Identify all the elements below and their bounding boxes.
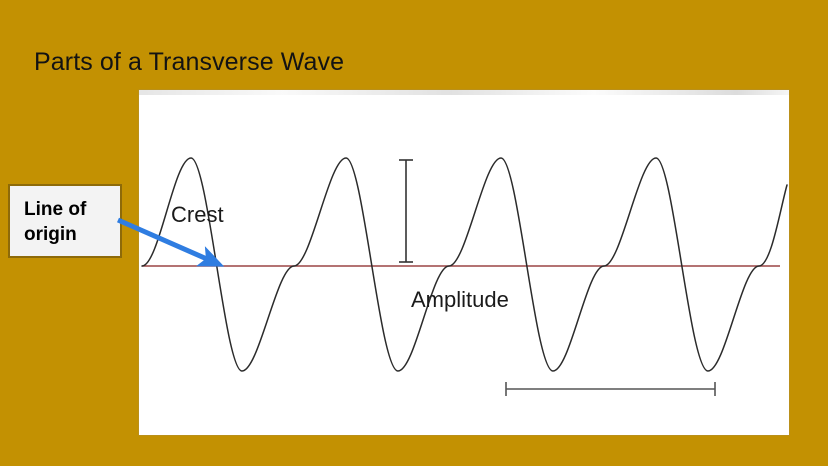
page-title: Parts of a Transverse Wave <box>34 47 344 77</box>
wavelength-marker <box>506 382 715 396</box>
wave-diagram-panel: Crest Trough Amplitude Wavelength <box>139 90 789 435</box>
callout-line-2: origin <box>24 224 77 245</box>
amplitude-marker <box>399 160 413 262</box>
amplitude-label: Amplitude <box>411 288 509 312</box>
wave-diagram-svg <box>139 90 789 435</box>
line-of-origin-callout-box[interactable]: Line of origin <box>8 184 122 258</box>
crest-label: Crest <box>171 203 224 227</box>
callout-line-1: Line of <box>24 199 86 220</box>
transverse-wave-curve <box>142 158 787 371</box>
callout-text: Line of origin <box>24 197 116 247</box>
slide-canvas: Parts of a Transverse Wave Crest <box>0 0 828 466</box>
